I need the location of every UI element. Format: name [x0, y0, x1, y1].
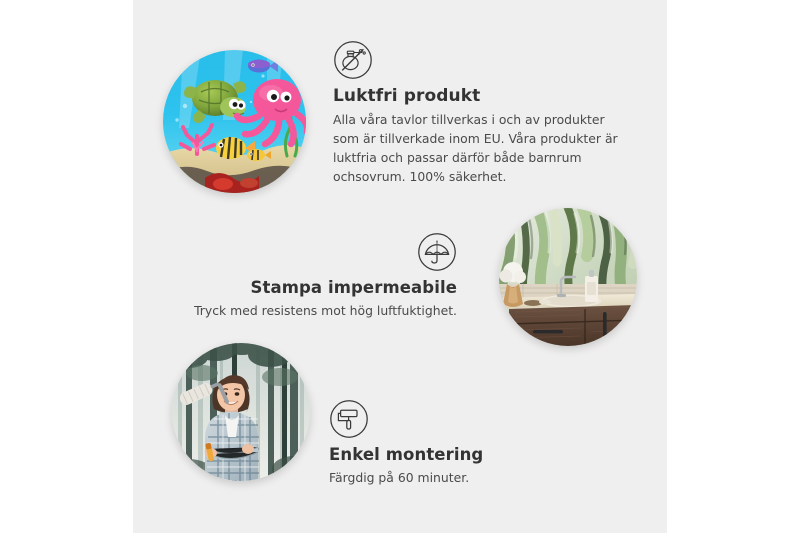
feature-description: Färgdig på 60 minuter.	[329, 469, 589, 488]
photo-woman-with-paint-roller-forest-wallpaper	[172, 343, 310, 481]
product-features-infographic: Luktfri produkt Alla våra tavlor tillver…	[0, 0, 800, 533]
feature-description: Tryck med resistens mot hög luftfuktighe…	[185, 302, 457, 321]
feature-easy-mounting: Enkel montering Färgdig på 60 minuter.	[329, 399, 589, 488]
feature-title: Luktfri produkt	[333, 86, 633, 106]
feature-odourless: Luktfri produkt Alla våra tavlor tillver…	[333, 40, 633, 187]
photo-bathroom-botanical-wallpaper	[499, 208, 637, 346]
paint-roller-icon	[329, 399, 369, 439]
photo-underwater-cartoon-scene	[163, 50, 306, 193]
feature-title: Stampa impermeabile	[185, 278, 457, 298]
feature-title: Enkel montering	[329, 445, 589, 465]
feature-description: Alla våra tavlor tillverkas i och av pro…	[333, 111, 633, 186]
feature-waterproof: Stampa impermeabile Tryck med resistens …	[185, 232, 457, 321]
umbrella-icon	[417, 232, 457, 272]
no-fragrance-icon	[333, 40, 373, 80]
